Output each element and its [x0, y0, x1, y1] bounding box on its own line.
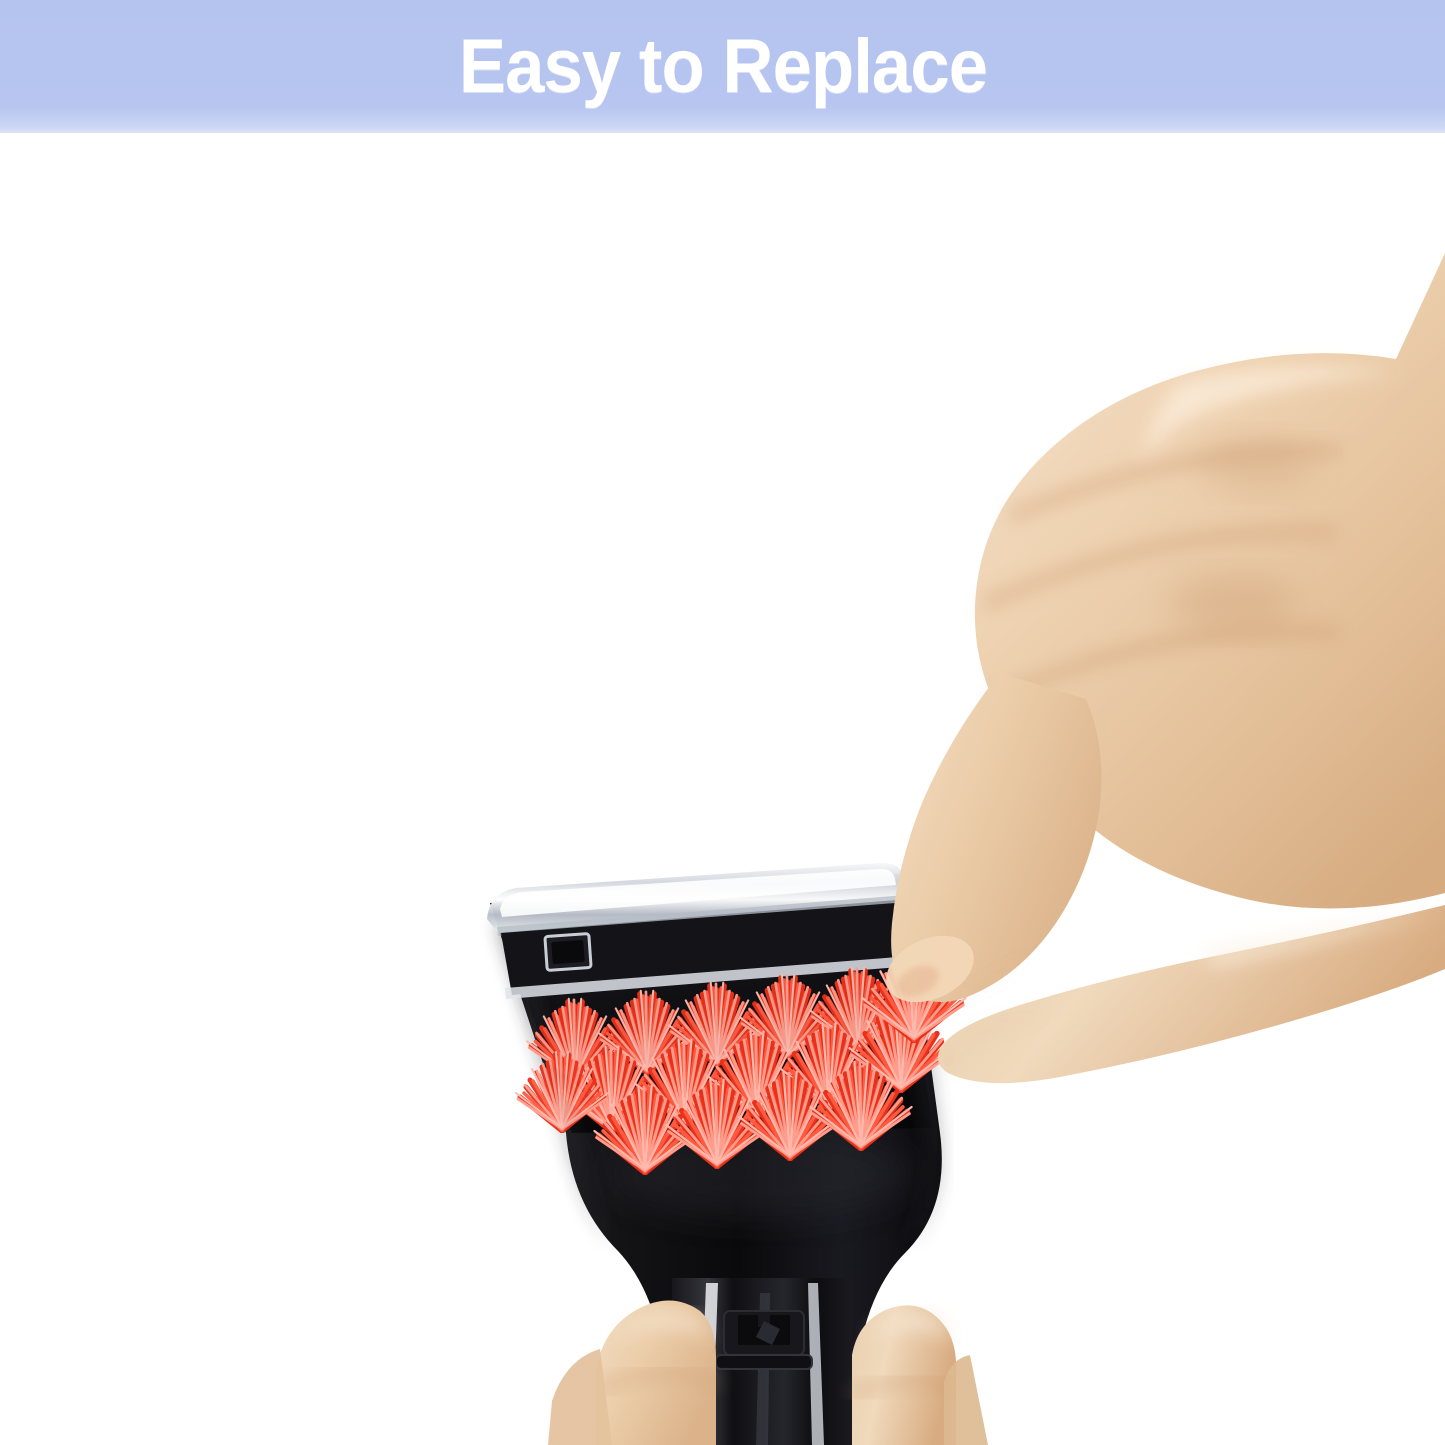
product-photo: [0, 133, 1445, 1445]
knuckle-shadow-1: [1198, 437, 1314, 489]
handle-release-button[interactable]: [716, 1311, 812, 1369]
latch-notch[interactable]: [545, 934, 591, 971]
product-marketing-image: Easy to Replace Replace the replacement …: [0, 0, 1445, 1445]
page-title: Easy to Replace: [458, 29, 986, 105]
knuckle-shadow-2: [1170, 575, 1294, 631]
header-banner: Easy to Replace: [0, 0, 1445, 133]
